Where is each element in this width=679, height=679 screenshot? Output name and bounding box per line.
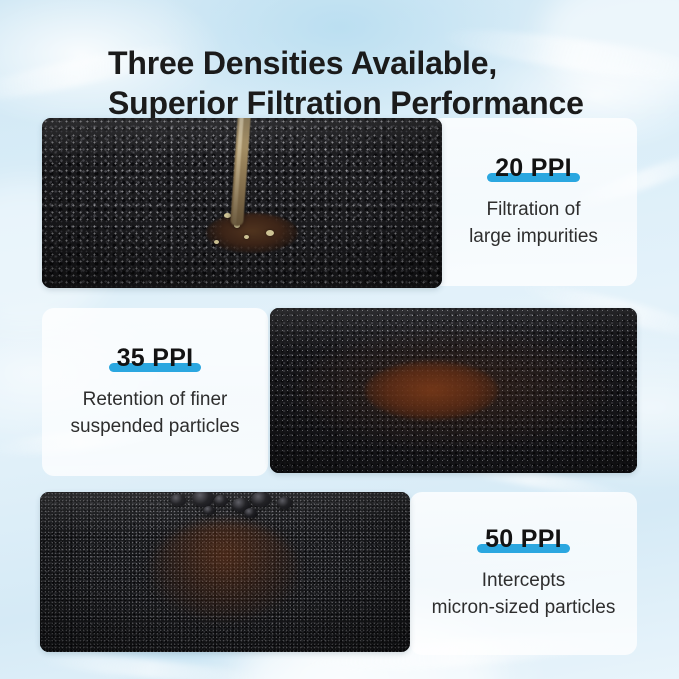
feature-description-line-1: Intercepts bbox=[432, 568, 616, 595]
feature-row-35ppi: 35 PPI Retention of finer suspended part… bbox=[0, 302, 679, 482]
feature-description: Intercepts micron-sized particles bbox=[432, 568, 616, 622]
photo-sheen bbox=[42, 118, 442, 288]
ppi-label: 35 PPI bbox=[111, 344, 200, 373]
feature-description-line-1: Filtration of bbox=[469, 197, 598, 224]
foam-photo-50ppi bbox=[40, 492, 410, 652]
ppi-badge-50: 50 PPI bbox=[479, 525, 568, 554]
feature-card-50ppi: 50 PPI Intercepts micron-sized particles bbox=[410, 492, 637, 655]
foam-photo-20ppi bbox=[42, 118, 442, 288]
ppi-label: 50 PPI bbox=[479, 525, 568, 554]
foam-photo-35ppi bbox=[270, 308, 637, 473]
feature-card-35ppi: 35 PPI Retention of finer suspended part… bbox=[42, 308, 268, 476]
feature-description: Retention of finer suspended particles bbox=[71, 387, 240, 441]
ppi-badge-20: 20 PPI bbox=[489, 154, 578, 183]
feature-description: Filtration of large impurities bbox=[469, 197, 598, 251]
ppi-label: 20 PPI bbox=[489, 154, 578, 183]
feature-description-line-2: suspended particles bbox=[71, 414, 240, 441]
infographic-stage: Three Densities Available, Superior Filt… bbox=[0, 0, 679, 679]
feature-card-20ppi: 20 PPI Filtration of large impurities bbox=[430, 118, 637, 286]
feature-row-20ppi: 20 PPI Filtration of large impurities bbox=[0, 112, 679, 292]
feature-row-50ppi: 50 PPI Intercepts micron-sized particles bbox=[0, 488, 679, 660]
feature-description-line-1: Retention of finer bbox=[71, 387, 240, 414]
page-title-line-1: Three Densities Available, bbox=[108, 43, 648, 83]
photo-sheen bbox=[40, 492, 410, 652]
photo-sheen bbox=[270, 308, 637, 473]
feature-description-line-2: large impurities bbox=[469, 224, 598, 251]
feature-description-line-2: micron-sized particles bbox=[432, 595, 616, 622]
ppi-badge-35: 35 PPI bbox=[111, 344, 200, 373]
